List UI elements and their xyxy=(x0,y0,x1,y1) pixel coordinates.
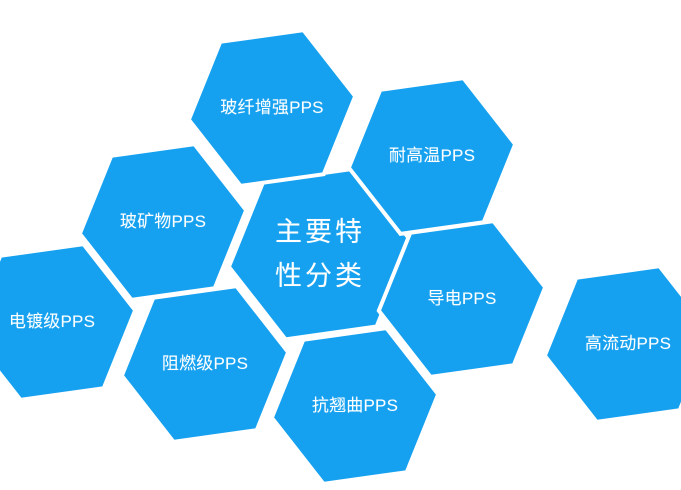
hexagon-cluster xyxy=(0,0,681,490)
hexagon-shape-high-flow[interactable] xyxy=(545,266,681,422)
diagram-canvas: 主要特性分类玻纤增强PPS耐高温PPS玻矿物PPS导电PPS电镀级PPS高流动P… xyxy=(0,0,681,490)
hexagon-shape-glass-fiber[interactable] xyxy=(189,30,355,186)
